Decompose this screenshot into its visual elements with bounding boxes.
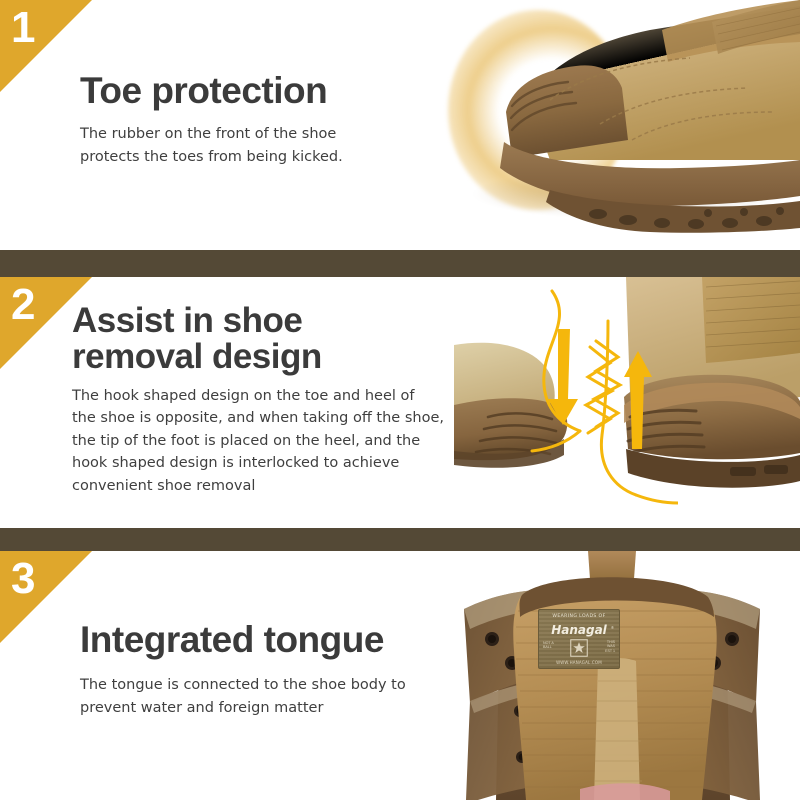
- step-badge-3: 3: [0, 551, 92, 643]
- step-number-1: 1: [11, 6, 34, 50]
- feature-copy-2: Assist in shoe removal design The hook s…: [72, 303, 502, 497]
- brand-label-trademark: ®: [611, 625, 614, 630]
- brand-label-right-small: THIS WAS EST 1: [605, 640, 615, 653]
- feature-body-3: The tongue is connected to the shoe body…: [80, 674, 480, 718]
- feature-body-2: The hook shaped design on the toe and he…: [72, 385, 502, 497]
- star-logo-icon: [570, 639, 588, 657]
- feature-title-3: Integrated tongue: [80, 621, 480, 659]
- brand-label: WEARING LOADS OF Hanagal ® NOT A BALL TH…: [538, 609, 620, 669]
- brand-label-top-line: WEARING LOADS OF: [539, 615, 619, 620]
- feature-section-3: WEARING LOADS OF Hanagal ® NOT A BALL TH…: [0, 551, 800, 800]
- feature-copy-3: Integrated tongue The tongue is connecte…: [80, 621, 480, 719]
- section-divider-2: [0, 528, 800, 551]
- brand-label-left-small: NOT A BALL: [543, 641, 554, 650]
- infographic-page: 1 Toe protection The rubber on the front…: [0, 0, 800, 800]
- brand-label-url: WWW.HANAGAL.COM: [539, 661, 619, 665]
- feature-title-1: Toe protection: [80, 72, 430, 110]
- step-number-2: 2: [11, 283, 34, 327]
- section-divider-1: [0, 250, 800, 277]
- feature-section-2: 2 Assist in shoe removal design The hook…: [0, 277, 800, 528]
- feature-body-1: The rubber on the front of the shoe prot…: [80, 123, 430, 167]
- step-badge-1: 1: [0, 0, 92, 92]
- boot-toe-illustration: [400, 0, 800, 250]
- feature-copy-1: Toe protection The rubber on the front o…: [80, 72, 430, 168]
- step-number-3: 3: [11, 557, 34, 601]
- boot-tongue-interior-photo: WEARING LOADS OF Hanagal ® NOT A BALL TH…: [430, 551, 800, 800]
- feature-title-2: Assist in shoe removal design: [72, 303, 502, 376]
- feature-section-1: 1 Toe protection The rubber on the front…: [0, 0, 800, 250]
- tongue-illustration: [430, 551, 800, 800]
- brand-label-name: Hanagal: [539, 624, 619, 636]
- interlock-arrows-graphic: [528, 285, 678, 525]
- boot-toe-closeup-photo: [400, 0, 800, 250]
